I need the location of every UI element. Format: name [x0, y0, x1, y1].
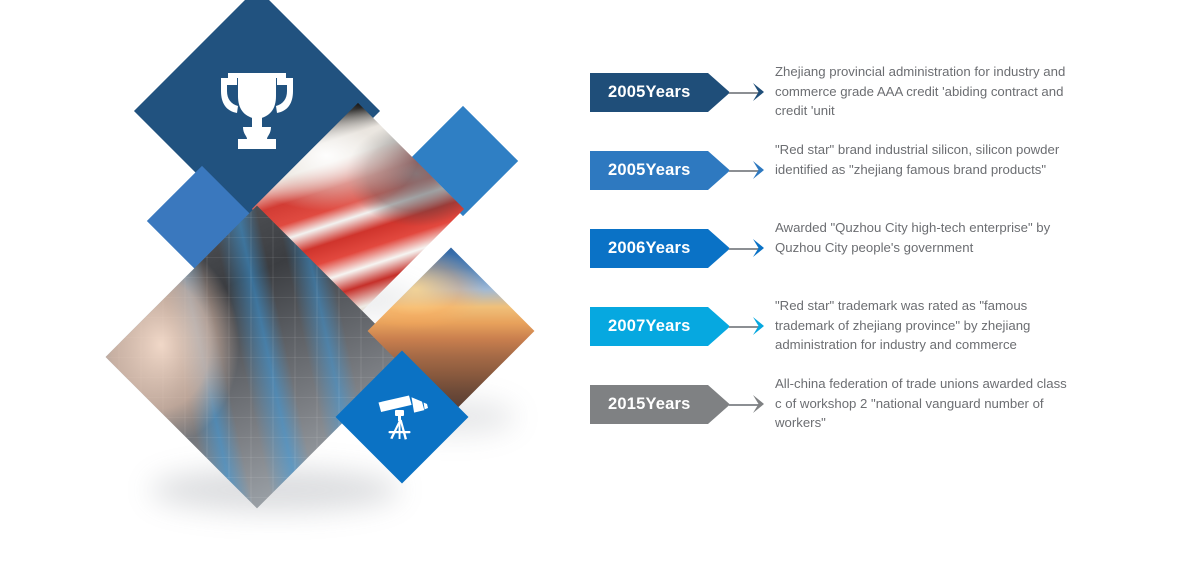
- year-badge[interactable]: 2005Years: [590, 151, 730, 190]
- milestone-text: Awarded "Quzhou City high-tech enterpris…: [775, 218, 1075, 257]
- timeline-row: 2015Years All-china federation of trade …: [590, 374, 1190, 452]
- year-badge-label: 2006Years: [590, 239, 691, 258]
- arrow-head-icon: [752, 317, 770, 335]
- milestones-timeline: 2005Years Zhejiang provincial administra…: [590, 62, 1190, 452]
- year-badge-wrap: 2005Years: [590, 73, 765, 112]
- arrow-head-icon: [752, 239, 770, 257]
- timeline-row: 2005Years "Red star" brand industrial si…: [590, 140, 1190, 218]
- year-badge-wrap: 2007Years: [590, 307, 765, 346]
- timeline-row: 2005Years Zhejiang provincial administra…: [590, 62, 1190, 140]
- year-badge-wrap: 2015Years: [590, 385, 765, 424]
- telescope-icon: [355, 370, 449, 464]
- timeline-row: 2007Years "Red star" trademark was rated…: [590, 296, 1190, 374]
- arrow-head-icon: [752, 83, 770, 101]
- year-badge[interactable]: 2015Years: [590, 385, 730, 424]
- year-badge-label: 2005Years: [590, 83, 691, 102]
- diamond-collage: [0, 0, 560, 567]
- year-badge[interactable]: 2007Years: [590, 307, 730, 346]
- milestone-text: Zhejiang provincial administration for i…: [775, 62, 1075, 121]
- arrow-head-icon: [752, 161, 770, 179]
- year-badge[interactable]: 2005Years: [590, 73, 730, 112]
- milestone-text: "Red star" brand industrial silicon, sil…: [775, 140, 1075, 179]
- year-badge-wrap: 2005Years: [590, 151, 765, 190]
- year-badge-label: 2015Years: [590, 395, 691, 414]
- timeline-row: 2006Years Awarded "Quzhou City high-tech…: [590, 218, 1190, 296]
- arrow-head-icon: [752, 395, 770, 413]
- infographic-page: 2005Years Zhejiang provincial administra…: [0, 0, 1200, 567]
- year-badge[interactable]: 2006Years: [590, 229, 730, 268]
- year-badge-label: 2007Years: [590, 317, 691, 336]
- year-badge-wrap: 2006Years: [590, 229, 765, 268]
- milestone-text: "Red star" trademark was rated as "famou…: [775, 296, 1075, 355]
- milestone-text: All-china federation of trade unions awa…: [775, 374, 1075, 433]
- year-badge-label: 2005Years: [590, 161, 691, 180]
